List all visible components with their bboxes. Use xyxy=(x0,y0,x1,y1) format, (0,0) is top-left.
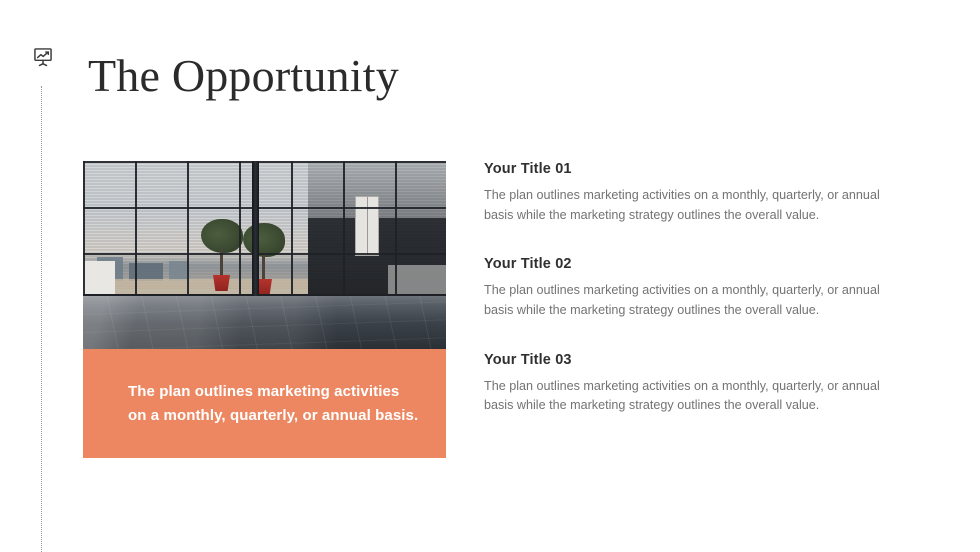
content-item-body: The plan outlines marketing activities o… xyxy=(484,186,899,225)
content-item: Your Title 01 The plan outlines marketin… xyxy=(484,161,904,225)
photo-polished-floor xyxy=(83,296,446,349)
photo-tree-canopy xyxy=(201,219,243,253)
content-item-body: The plan outlines marketing activities o… xyxy=(484,281,899,320)
photo-tree-trunk xyxy=(220,249,223,277)
slide-canvas: The Opportunity xyxy=(0,0,980,552)
content-item-body: The plan outlines marketing activities o… xyxy=(484,377,899,416)
presentation-board-icon xyxy=(32,46,54,68)
content-item-title: Your Title 01 xyxy=(484,161,904,177)
photo-city-building xyxy=(169,261,187,281)
content-item-title: Your Title 02 xyxy=(484,256,904,272)
rail-dotted-line xyxy=(41,86,42,552)
content-item: Your Title 02 The plan outlines marketin… xyxy=(484,256,904,320)
caption-banner: The plan outlines marketing activities o… xyxy=(83,349,446,458)
content-item-title: Your Title 03 xyxy=(484,352,904,368)
media-card: The plan outlines marketing activities o… xyxy=(83,161,446,458)
content-item: Your Title 03 The plan outlines marketin… xyxy=(484,352,904,416)
photo-tree-trunk xyxy=(262,253,265,281)
office-lobby-photo xyxy=(83,161,446,349)
photo-glass-door xyxy=(355,196,379,256)
page-title: The Opportunity xyxy=(88,52,399,100)
photo-tree-canopy xyxy=(243,223,285,257)
caption-text: The plan outlines marketing activities o… xyxy=(83,380,446,427)
photo-red-pot xyxy=(213,275,230,291)
content-column: Your Title 01 The plan outlines marketin… xyxy=(484,161,904,416)
left-rail xyxy=(30,46,56,506)
